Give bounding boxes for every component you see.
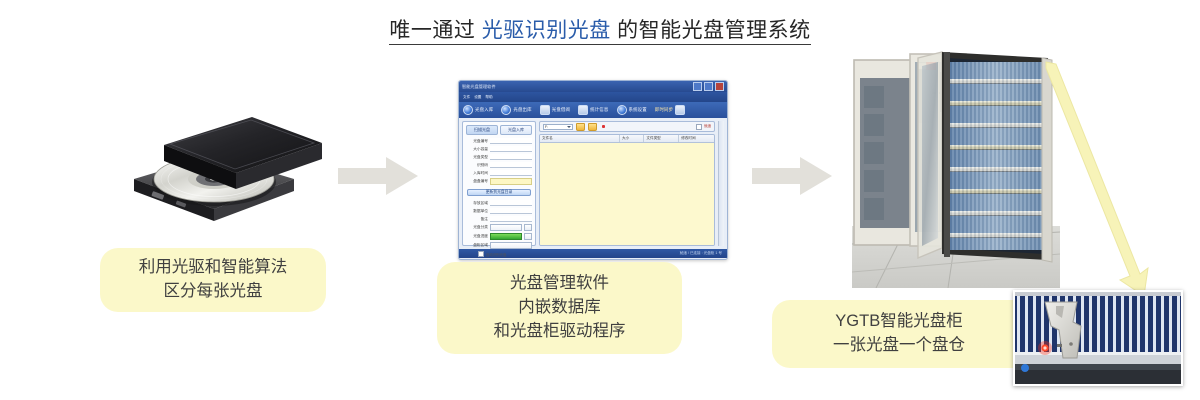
hint-checkbox-icon[interactable] <box>696 124 702 130</box>
disc-category-label: 光盘分类 <box>466 225 488 230</box>
arrow-software-to-cabinet <box>752 157 834 195</box>
toolbar-stats-label: 统计信息 <box>590 107 608 113</box>
toolbar-disc-in-label: 光盘入库 <box>475 107 493 113</box>
sync-icon <box>675 105 685 115</box>
window-title-bar: 智能光盘管理软件 <box>459 81 727 92</box>
field-area-label: 存放区域 <box>466 201 488 206</box>
software-window[interactable]: 智能光盘管理软件 文件 设置 帮助 光盘入库 光盘出库 <box>458 80 728 260</box>
menu-item-file[interactable]: 文件 <box>463 95 470 100</box>
toolbar-disc-in[interactable]: 光盘入库 <box>463 105 493 115</box>
menu-item-settings[interactable]: 设置 <box>474 95 481 100</box>
toolbar-settings[interactable]: 系统设置 <box>617 105 647 115</box>
toolbar-disc-lend[interactable]: 光盘借阅 <box>540 105 570 115</box>
folder-open-icon[interactable] <box>576 123 585 131</box>
field-area-input[interactable] <box>490 200 532 206</box>
field-identifier[interactable]: 识别码 <box>466 162 532 168</box>
maximize-icon[interactable] <box>704 82 713 91</box>
field-disc-no-label: 光盘编号 <box>466 139 488 144</box>
field-remark-input[interactable] <box>490 216 532 222</box>
caption-software: 光盘管理软件 内嵌数据库 和光盘柜驱动程序 <box>437 262 682 354</box>
caption-drive-line-2: 区分每张光盘 <box>164 280 263 304</box>
title-suffix: 的智能光盘管理系统 <box>611 19 811 42</box>
field-box-no-label: 盘盒编号 <box>466 179 488 184</box>
close-icon[interactable] <box>715 82 724 91</box>
disc-progress-bar <box>490 233 522 240</box>
disc-progress-row[interactable]: 光盘进度 <box>466 233 532 240</box>
field-in-time-label: 入库时间 <box>466 171 488 176</box>
disc-category-select[interactable] <box>490 224 522 231</box>
external-dvd-drive-photo <box>118 105 328 225</box>
toolbar-disc-out-label: 光盘出库 <box>513 107 531 113</box>
caption-cabinet-line-1: YGTB智能光盘柜 <box>835 310 962 334</box>
update-catalog-button[interactable]: 更新到光盘目录 <box>467 189 531 196</box>
toolbar-disc-lend-label: 光盘借阅 <box>552 107 570 113</box>
toolbar-settings-label: 系统设置 <box>629 107 647 113</box>
file-table-body[interactable] <box>540 143 714 245</box>
red-indicator-led <box>1038 341 1052 355</box>
window-controls[interactable] <box>693 82 724 91</box>
field-unit-input[interactable] <box>490 208 532 214</box>
caption-drive-line-1: 利用光驱和智能算法 <box>139 256 288 280</box>
left-form-panel[interactable]: 扫描光盘 光盘入库 光盘编号 大小容量 光盘类型 识别码 <box>462 121 536 246</box>
file-table[interactable]: 文件名 大小 文件类型 修改时间 <box>539 134 715 246</box>
panel-tab-scan[interactable]: 扫描光盘 <box>466 125 498 135</box>
caption-software-line-3: 和光盘柜驱动程序 <box>494 320 626 344</box>
caption-software-line-1: 光盘管理软件 <box>510 272 609 296</box>
callout-arrow <box>1040 60 1170 300</box>
menu-bar[interactable]: 文件 设置 帮助 <box>459 92 727 102</box>
file-browser-hint[interactable]: 就绪 <box>696 124 711 130</box>
disc-cabinet-photo <box>852 48 1060 288</box>
minimize-icon[interactable] <box>693 82 702 91</box>
open-cabinet-door <box>918 52 942 258</box>
field-remark[interactable]: 备注 <box>466 216 532 222</box>
disc-category-row[interactable]: 光盘分类 <box>466 224 532 231</box>
slide-canvas: 唯一通过 光驱识别光盘 的智能光盘管理系统 <box>0 0 1200 400</box>
field-box-no-input[interactable] <box>490 178 532 185</box>
toolbar[interactable]: 光盘入库 光盘出库 光盘借阅 统计信息 系统设置 即时同步 <box>459 102 727 118</box>
field-in-time-input[interactable] <box>490 170 532 176</box>
auto-recognize-checkbox[interactable]: 自动识别光盘 <box>466 251 532 257</box>
gripper-closeup-photo <box>1013 290 1183 386</box>
col-size: 大小 <box>620 135 644 142</box>
refresh-button[interactable] <box>524 224 532 231</box>
field-disc-no[interactable]: 光盘编号 <box>466 138 532 144</box>
field-box-no[interactable]: 盘盒编号 <box>466 178 532 185</box>
field-disc-no-input[interactable] <box>490 138 532 144</box>
vertical-scrollbar[interactable] <box>718 121 724 246</box>
disc-out-icon <box>501 105 511 115</box>
field-area[interactable]: 存放区域 <box>466 200 532 206</box>
toolbar-sync-label: 即时同步 <box>655 107 673 113</box>
arrow-drive-to-software <box>338 157 420 195</box>
menu-item-help[interactable]: 帮助 <box>485 95 492 100</box>
caption-cabinet-line-2: 一张光盘一个盘仓 <box>833 334 965 358</box>
file-table-header: 文件名 大小 文件类型 修改时间 <box>540 135 714 143</box>
field-capacity-input[interactable] <box>490 146 532 152</box>
col-modified: 修改时间 <box>679 135 714 142</box>
page-title: 唯一通过 光驱识别光盘 的智能光盘管理系统 <box>0 14 1200 44</box>
blue-indicator-dot <box>1021 364 1029 372</box>
field-unit-label: 数据单位 <box>466 209 488 214</box>
field-in-time[interactable]: 入库时间 <box>466 170 532 176</box>
cabinet-area-row[interactable]: 盘柜区域 <box>466 242 532 249</box>
cabinet-area-label: 盘柜区域 <box>466 243 488 248</box>
field-identifier-label: 识别码 <box>466 163 488 168</box>
field-capacity-label: 大小容量 <box>466 147 488 152</box>
gear-icon <box>617 105 627 115</box>
field-identifier-input[interactable] <box>490 162 532 168</box>
caption-software-line-2: 内嵌数据库 <box>518 296 601 320</box>
col-type: 文件类型 <box>644 135 679 142</box>
record-icon[interactable] <box>602 125 605 128</box>
file-browser-hint-label: 就绪 <box>704 124 711 129</box>
disc-lend-icon <box>540 105 550 115</box>
file-browser-panel[interactable]: F: 就绪 文件名 大小 文件类型 <box>539 121 715 246</box>
col-filename: 文件名 <box>540 135 620 142</box>
field-unit[interactable]: 数据单位 <box>466 208 532 214</box>
field-disc-type-input[interactable] <box>490 154 532 160</box>
cabinet-area-select[interactable] <box>490 242 532 249</box>
title-highlight: 光驱识别光盘 <box>482 19 611 42</box>
chevron-down-icon[interactable] <box>567 126 571 128</box>
field-remark-label: 备注 <box>466 217 488 222</box>
caption-drive: 利用光驱和智能算法 区分每张光盘 <box>100 248 326 312</box>
auto-recognize-label: 自动识别光盘 <box>486 252 506 257</box>
disc-cabinet-main <box>942 52 1052 262</box>
folder-icon[interactable] <box>588 123 597 131</box>
drive-select-value: F: <box>545 125 548 129</box>
toolbar-disc-out[interactable]: 光盘出库 <box>501 105 531 115</box>
field-capacity[interactable]: 大小容量 <box>466 146 532 152</box>
panel-tabs[interactable]: 扫描光盘 光盘入库 <box>466 125 532 135</box>
stats-icon <box>578 105 588 115</box>
stepper-up-icon[interactable] <box>524 233 532 240</box>
window-body: 扫描光盘 光盘入库 光盘编号 大小容量 光盘类型 识别码 <box>459 118 727 249</box>
toolbar-sync[interactable]: 即时同步 <box>655 105 685 115</box>
status-text: 就绪 / 已连接 : 光盘柜 1 号 <box>680 251 722 256</box>
checkbox-box-icon[interactable] <box>478 251 484 257</box>
field-disc-type-label: 光盘类型 <box>466 155 488 160</box>
file-browser-toolbar[interactable]: F: 就绪 <box>539 121 715 132</box>
field-disc-type[interactable]: 光盘类型 <box>466 154 532 160</box>
toolbar-stats[interactable]: 统计信息 <box>578 105 608 115</box>
disc-in-icon <box>463 105 473 115</box>
panel-tab-in[interactable]: 光盘入库 <box>500 125 532 135</box>
title-prefix: 唯一通过 <box>389 19 481 42</box>
drive-select[interactable]: F: <box>543 124 573 130</box>
disc-progress-label: 光盘进度 <box>466 234 488 239</box>
window-title: 智能光盘管理软件 <box>462 84 496 90</box>
